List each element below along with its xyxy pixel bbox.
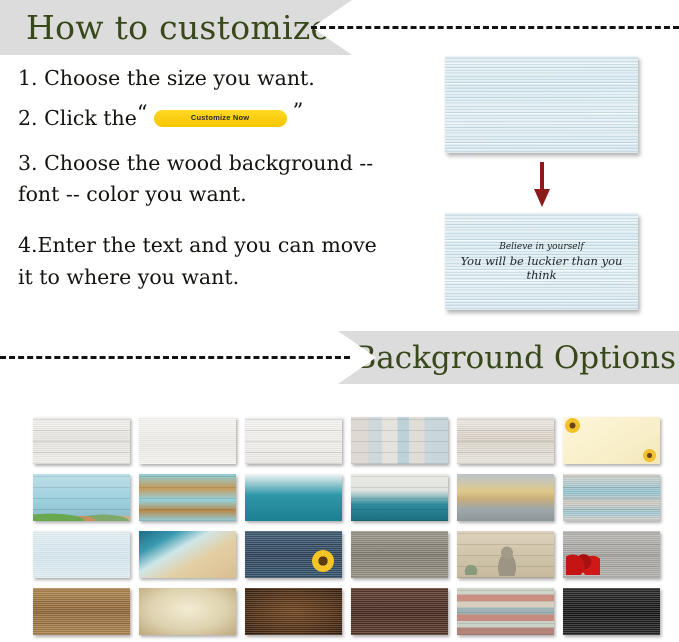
thumbnail-texture (563, 417, 660, 464)
sign-caption: Believe in yourself You will be luckier … (445, 213, 638, 310)
thumbnail-texture (563, 474, 660, 521)
sign-caption-line-1: Believe in yourself (499, 242, 584, 252)
background-options-grid (33, 417, 660, 635)
blank-sign-preview (445, 56, 638, 153)
coral-reef-icon (33, 504, 130, 521)
thumbnail-texture (139, 417, 236, 464)
background-thumbnail-buddha-zen-wood[interactable] (457, 531, 554, 578)
thumbnail-texture (563, 531, 660, 578)
thumbnail-texture (457, 417, 554, 464)
background-thumbnail-vintage-parchment[interactable] (139, 588, 236, 635)
thumbnail-texture (351, 474, 448, 521)
background-thumbnail-golden-oak-planks[interactable] (33, 588, 130, 635)
background-thumbnail-dark-burnt-wood[interactable] (245, 588, 342, 635)
down-arrow-icon (534, 162, 550, 208)
page-title: How to customize (26, 8, 330, 47)
poppy-flowers-icon (566, 553, 600, 575)
background-thumbnail-black-chalkboard-wood[interactable] (563, 588, 660, 635)
background-thumbnail-navy-wood-sunflower[interactable] (245, 531, 342, 578)
background-thumbnail-teal-wash-planks[interactable] (351, 474, 448, 521)
customize-now-button[interactable]: Customize Now (154, 110, 287, 127)
background-thumbnail-plain-white-wood[interactable] (139, 417, 236, 464)
thumbnail-texture (245, 474, 342, 521)
sunflower-icon (312, 550, 334, 572)
thumbnail-texture (351, 417, 448, 464)
step-2: 2. Click the “ Customize Now ” (18, 108, 398, 129)
buddha-statue-icon (494, 546, 520, 576)
background-thumbnail-coral-reef-underwater[interactable] (33, 474, 130, 521)
background-thumbnail-white-washed-planks[interactable] (33, 417, 130, 464)
thumbnail-texture (457, 531, 554, 578)
thumbnail-texture (139, 588, 236, 635)
thumbnail-texture (33, 417, 130, 464)
background-thumbnail-pale-blue-wood[interactable] (33, 531, 130, 578)
background-thumbnail-golden-sunset-sea[interactable] (457, 474, 554, 521)
customization-guide-page: How to customize 1. Choose the size you … (0, 0, 679, 642)
quote-close: ” (293, 101, 304, 122)
thumbnail-texture (351, 531, 448, 578)
options-title: 24 Background Options (304, 340, 676, 376)
sunflower-icon (565, 418, 580, 433)
thumbnail-texture (351, 588, 448, 635)
background-thumbnail-driftwood-distressed[interactable] (457, 417, 554, 464)
steps-list: 1. Choose the size you want. 2. Click th… (18, 68, 398, 313)
thumbnail-texture (245, 588, 342, 635)
thumbnail-texture (245, 531, 342, 578)
options-dashed-line (0, 356, 350, 359)
step-1: 1. Choose the size you want. (18, 68, 398, 89)
background-thumbnail-pastel-striped-wood[interactable] (457, 588, 554, 635)
thumbnail-texture (457, 474, 554, 521)
lotus-icon (463, 563, 479, 575)
options-ribbon: 24 Background Options (338, 331, 679, 384)
background-thumbnail-blue-gray-weathered[interactable] (563, 474, 660, 521)
background-thumbnail-gray-brown-barnwood[interactable] (351, 531, 448, 578)
thumbnail-texture (139, 474, 236, 521)
sign-caption-line-2: You will be luckier than you think (445, 254, 638, 282)
step-4: 4.Enter the text and you can move it to … (18, 230, 398, 294)
sign-wood-texture (445, 56, 638, 153)
thumbnail-texture (33, 588, 130, 635)
thumbnail-texture (563, 588, 660, 635)
step-3: 3. Choose the wood background -- font --… (18, 148, 398, 212)
background-thumbnail-white-script-wood[interactable] (245, 417, 342, 464)
thumbnail-texture (457, 588, 554, 635)
background-thumbnail-mosaic-plank-wood[interactable] (351, 417, 448, 464)
thumbnail-texture (245, 417, 342, 464)
quote-open: “ (137, 103, 148, 124)
background-thumbnail-teal-sea-foam[interactable] (245, 474, 342, 521)
header-ribbon: How to customize (0, 0, 352, 55)
thumbnail-texture (33, 474, 130, 521)
background-thumbnail-mahogany-planks[interactable] (351, 588, 448, 635)
header-dashed-line (311, 26, 679, 29)
background-thumbnail-cream-sunflower[interactable] (563, 417, 660, 464)
thumbnail-texture (33, 531, 130, 578)
background-thumbnail-peeling-teal-orange-wood[interactable] (139, 474, 236, 521)
background-thumbnail-gray-wood-red-poppies[interactable] (563, 531, 660, 578)
sunflower-icon (643, 449, 656, 462)
step-2-prefix: 2. Click the (18, 108, 137, 129)
background-thumbnail-beach-shoreline[interactable] (139, 531, 236, 578)
result-sign-preview: Believe in yourself You will be luckier … (445, 213, 638, 310)
thumbnail-texture (139, 531, 236, 578)
